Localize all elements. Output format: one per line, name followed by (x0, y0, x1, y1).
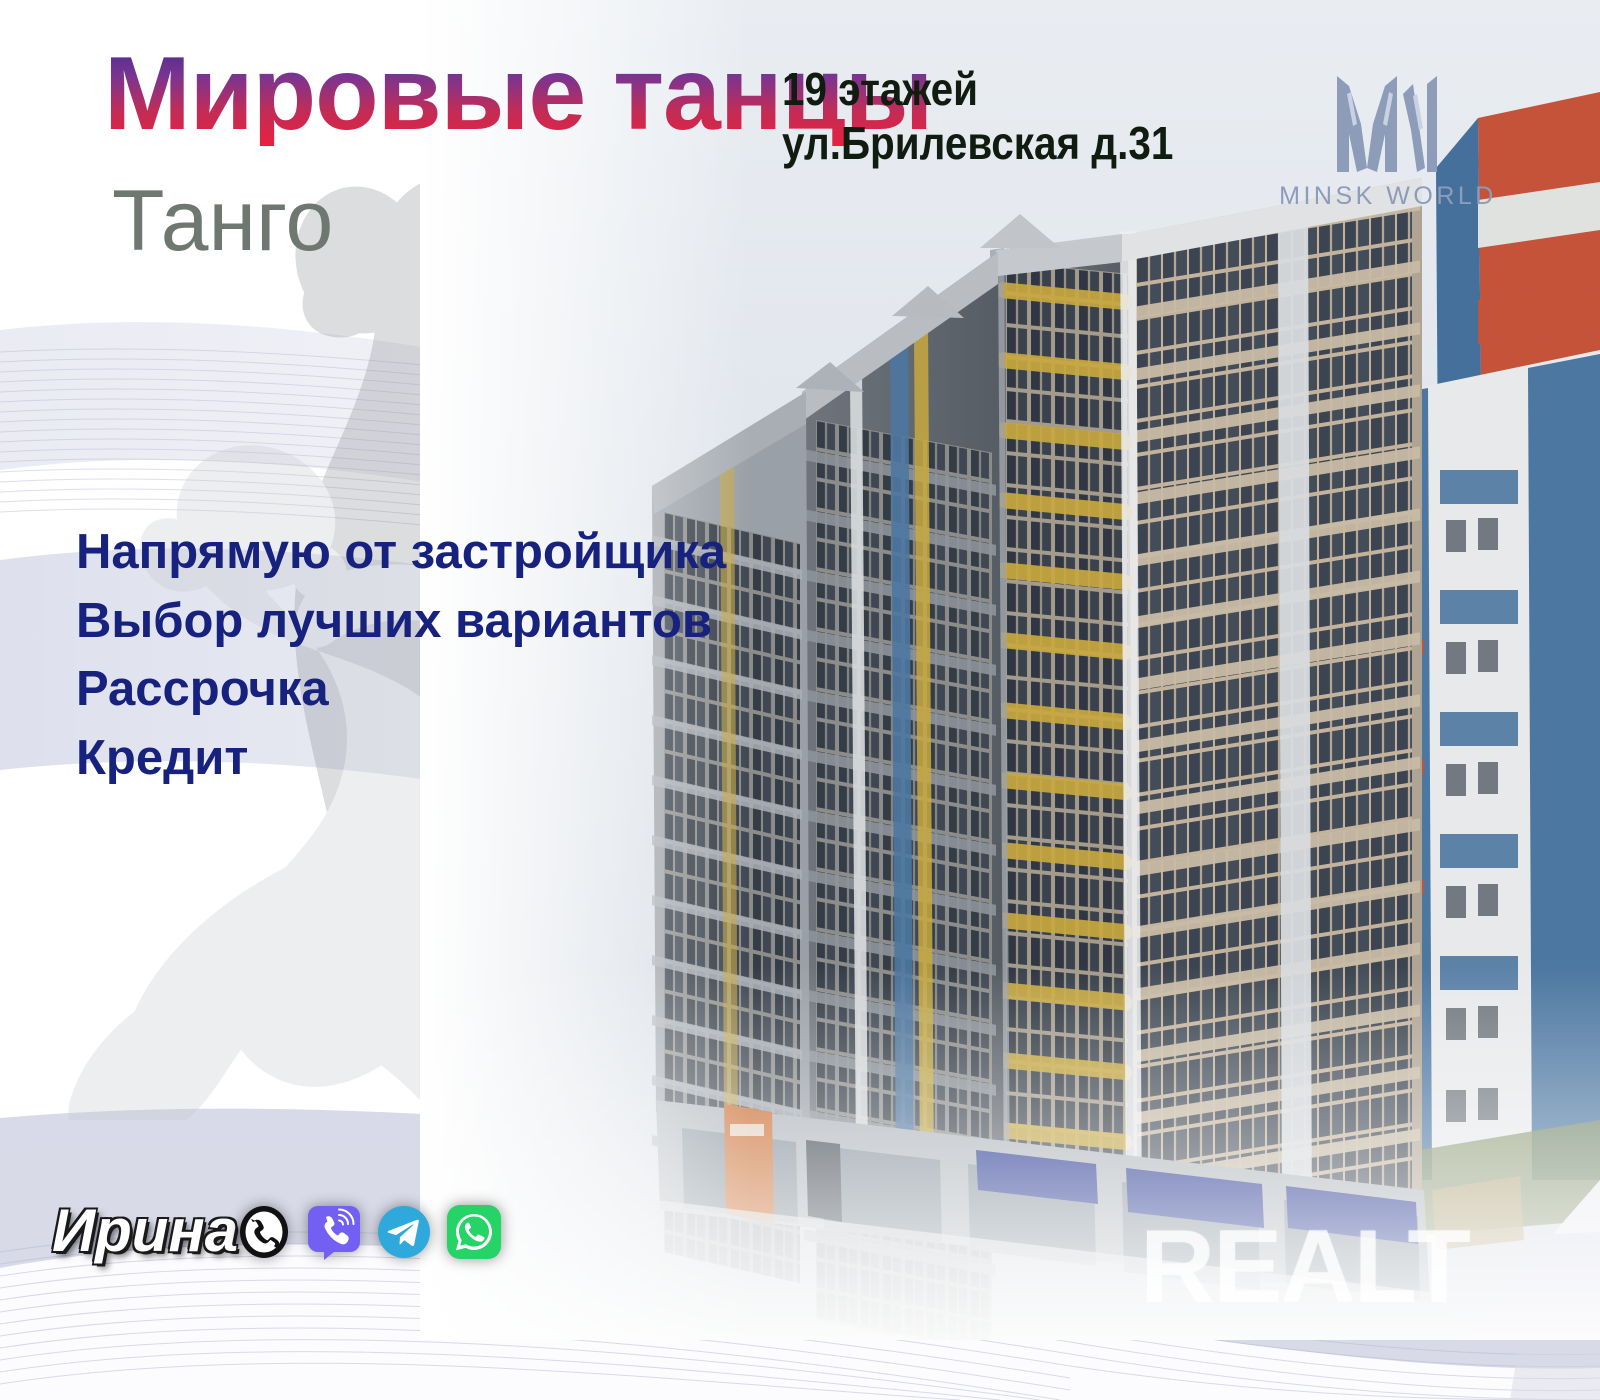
benefits-list: Напрямую от застройщика Выбор лучших вар… (76, 518, 726, 792)
phone-icon[interactable] (236, 1204, 292, 1260)
property-address: ул.Брилевская д.31 (782, 116, 1173, 170)
mw-monogram-icon (1329, 72, 1447, 176)
benefit-item-4: Кредит (76, 724, 726, 793)
realt-watermark: REALT (1140, 1208, 1469, 1327)
minsk-world-logo: MINSK WORLD (1268, 72, 1508, 222)
brand-name: MINSK WORLD (1268, 182, 1508, 211)
benefit-item-1: Напрямую от застройщика (76, 518, 726, 587)
page-subtitle: Танго (112, 178, 333, 264)
viber-icon[interactable] (306, 1204, 362, 1260)
floors-count: 19 этажей (782, 62, 1173, 116)
contact-icons[interactable] (236, 1204, 502, 1260)
property-info: 19 этажей ул.Брилевская д.31 (782, 62, 1173, 171)
advertisement-poster: Мировые танцы Танго 19 этажей ул.Брилевс… (0, 0, 1600, 1400)
benefit-item-3: Рассрочка (76, 655, 726, 724)
agent-name: Ирина (52, 1196, 238, 1265)
telegram-icon[interactable] (376, 1204, 432, 1260)
whatsapp-icon[interactable] (446, 1204, 502, 1260)
benefit-item-2: Выбор лучших вариантов (76, 587, 726, 656)
